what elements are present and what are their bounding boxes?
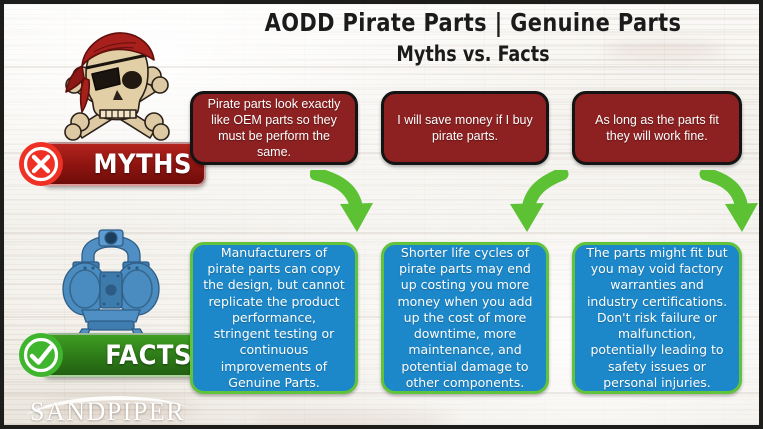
myths-badge-label: MYTHS [42, 142, 206, 186]
aodd-diaphragm-pump-image [52, 226, 170, 342]
sandpiper-logo: SANDPIPER [20, 395, 200, 429]
facts-badge-label: FACTS [42, 333, 206, 377]
curved-down-arrow-icon-2 [504, 170, 570, 238]
title-block: AODD Pirate Parts | Genuine Parts Myths … [184, 8, 762, 66]
myths-badge: MYTHS [18, 143, 206, 185]
curved-down-arrow-icon-1 [310, 170, 376, 238]
infographic-canvas: AODD Pirate Parts | Genuine Parts Myths … [0, 0, 763, 429]
page-subtitle: Myths vs. Facts [204, 42, 742, 66]
facts-badge: FACTS [18, 334, 206, 376]
fact-card-3: The parts might fit but you may void fac… [572, 242, 742, 394]
myth-card-1: Pirate parts look exactly like OEM parts… [190, 91, 358, 165]
myth-card-3: As long as the parts fit they will work … [572, 91, 742, 165]
x-circle-icon [18, 141, 64, 187]
fact-card-2: Shorter life cycles of pirate parts may … [381, 242, 549, 394]
sandpiper-wordmark-text: SANDPIPER [30, 397, 185, 427]
check-circle-icon [18, 332, 64, 378]
wood-stain [254, 414, 454, 426]
page-title: AODD Pirate Parts | Genuine Parts [204, 8, 742, 37]
fact-card-1: Manufacturers of pirate parts can copy t… [190, 242, 358, 394]
myth-card-2: I will save money if I buy pirate parts. [381, 91, 549, 165]
pirate-skull-crossbones-icon [56, 22, 176, 146]
curved-down-arrow-icon-3 [696, 170, 762, 238]
